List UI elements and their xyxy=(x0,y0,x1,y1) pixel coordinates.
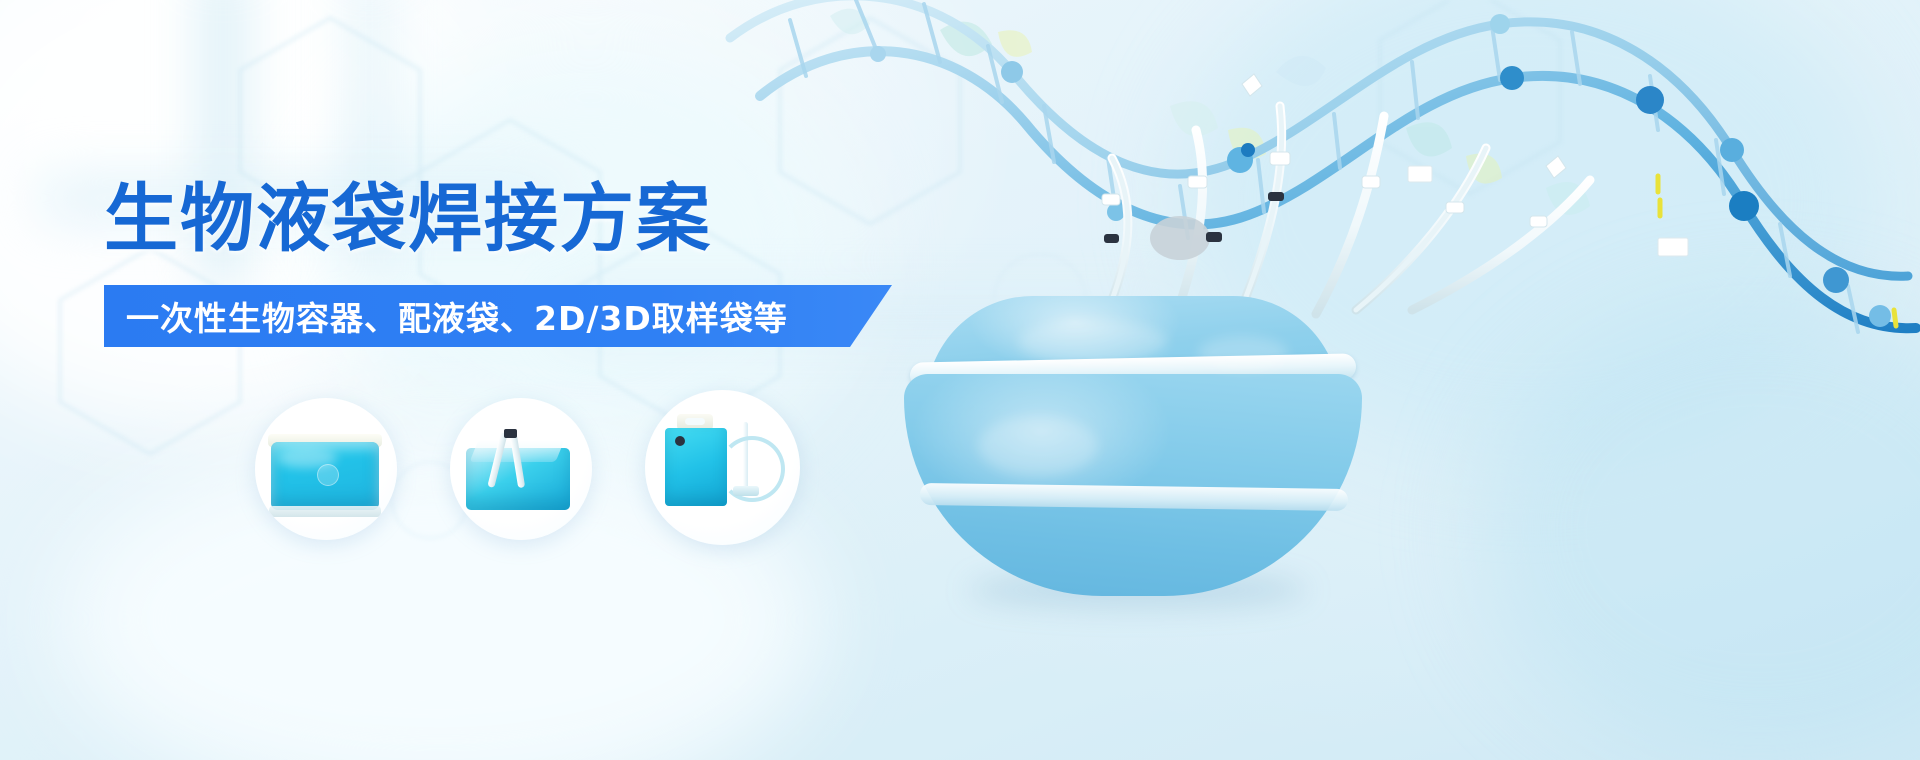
product-circle-3[interactable] xyxy=(645,390,800,545)
bag3-port xyxy=(675,436,685,446)
bag-highlight-1 xyxy=(1018,320,1168,364)
sampling-bag-icon xyxy=(663,414,783,524)
bag-highlight-3 xyxy=(978,416,1098,476)
bag1-port xyxy=(317,464,339,486)
bag3-connector xyxy=(733,486,759,496)
subtitle-bar: 一次性生物容器、配液袋、2D/3D取样袋等 xyxy=(104,285,892,347)
promotional-banner: 生物液袋焊接方案 一次性生物容器、配液袋、2D/3D取样袋等 xyxy=(0,0,1920,760)
bag2-clamp xyxy=(504,429,517,438)
product-circle-1[interactable] xyxy=(255,398,397,540)
subtitle-text: 一次性生物容器、配液袋、2D/3D取样袋等 xyxy=(104,292,788,340)
bioprocess-3d-bag-icon xyxy=(898,296,1368,596)
cube-liquid-bag-icon xyxy=(460,438,580,514)
product-circle-2[interactable] xyxy=(450,398,592,540)
bag1-bottom-seal xyxy=(269,506,381,517)
title-block: 生物液袋焊接方案 xyxy=(104,182,712,256)
pillow-liquid-bag-icon xyxy=(271,442,379,510)
product-thumbnail-group xyxy=(255,390,875,560)
bg-blob-4 xyxy=(1480,300,1920,760)
bag-highlight-2 xyxy=(1198,336,1288,370)
page-title: 生物液袋焊接方案 xyxy=(104,182,712,256)
